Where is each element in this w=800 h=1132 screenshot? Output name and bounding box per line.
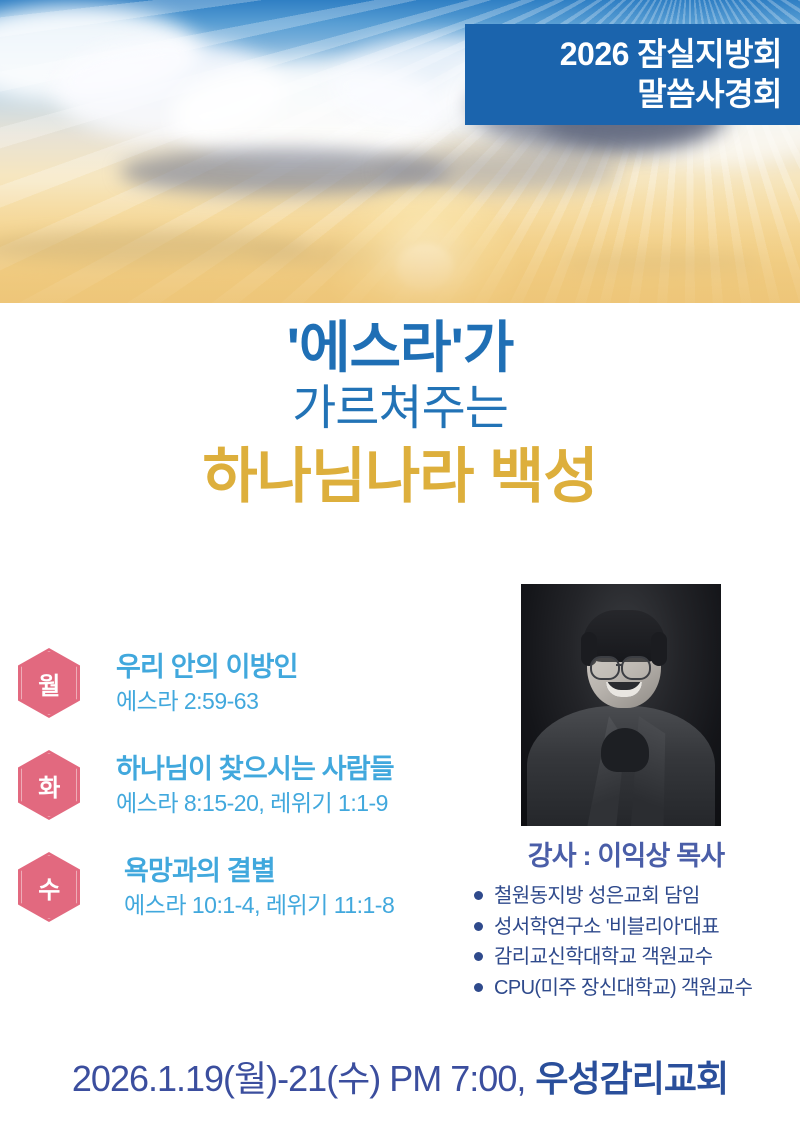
bullet-icon: [474, 891, 483, 900]
bullet-icon: [474, 952, 483, 961]
schedule-text: 하나님이 찾으시는 사람들 에스라 8:15-20, 레위기 1:1-9: [116, 751, 394, 818]
credential-item: 감리교신학대학교 객원교수: [452, 943, 800, 971]
bullet-icon: [474, 922, 483, 931]
title-line-2: 가르쳐주는: [0, 380, 800, 439]
day-badge-label: 월: [38, 666, 60, 701]
speaker-name: 강사 : 이익상 목사: [452, 840, 800, 872]
session-title: 하나님이 찾으시는 사람들: [116, 753, 394, 785]
day-badge-hexagon: 화: [18, 750, 80, 820]
day-badge-label: 화: [38, 768, 60, 803]
credential-item: CPU(미주 장신대학교) 객원교수: [452, 974, 800, 1002]
session-scripture: 에스라 10:1-4, 레위기 11:1-8: [124, 891, 394, 921]
footer-details: 2026.1.19(월)-21(수) PM 7:00, 우성감리교회: [0, 1050, 800, 1102]
horizon-glow: [0, 183, 800, 303]
speaker-credentials-list: 철원동지방 성은교회 담임 성서학연구소 '비블리아'대표 감리교신학대학교 객…: [452, 882, 800, 1002]
speaker-portrait-photo: [521, 584, 721, 826]
header-banner: 2026 잠실지방회 말씀사경회: [465, 24, 800, 125]
schedule-item: 수 욕망과의 결별 에스라 10:1-4, 레위기 11:1-8: [18, 852, 488, 922]
event-venue: 우성감리교회: [535, 1050, 728, 1102]
schedule-text: 욕망과의 결별 에스라 10:1-4, 레위기 11:1-8: [124, 853, 394, 920]
schedule-text: 우리 안의 이방인 에스라 2:59-63: [116, 649, 298, 716]
portrait-hair-right: [651, 632, 667, 666]
portrait-glasses-right: [621, 656, 651, 680]
event-poster: 2026 잠실지방회 말씀사경회 '에스라'가 가르쳐주는 하나님나라 백성 월…: [0, 0, 800, 1132]
schedule-list: 월 우리 안의 이방인 에스라 2:59-63 화 하나님이 찾으시는 사람들 …: [18, 648, 488, 954]
title-line-3: 하나님나라 백성: [0, 443, 800, 510]
banner-line-2: 말씀사경회: [637, 75, 782, 114]
session-title: 우리 안의 이방인: [116, 651, 298, 683]
day-badge-hexagon: 수: [18, 852, 80, 922]
day-badge-label: 수: [38, 870, 60, 905]
credential-item: 성서학연구소 '비블리아'대표: [452, 913, 800, 941]
schedule-item: 화 하나님이 찾으시는 사람들 에스라 8:15-20, 레위기 1:1-9: [18, 750, 488, 820]
credential-text: CPU(미주 장신대학교) 객원교수: [494, 974, 752, 1002]
title-line-1: '에스라'가: [0, 318, 800, 378]
poster-title: '에스라'가 가르쳐주는 하나님나라 백성: [0, 318, 800, 510]
portrait-turtleneck: [601, 728, 649, 772]
credential-text: 성서학연구소 '비블리아'대표: [494, 913, 719, 941]
bullet-icon: [474, 983, 483, 992]
day-badge-hexagon: 월: [18, 648, 80, 718]
speaker-info: 강사 : 이익상 목사 철원동지방 성은교회 담임 성서학연구소 '비블리아'대…: [452, 840, 800, 1004]
credential-item: 철원동지방 성은교회 담임: [452, 882, 800, 910]
credential-text: 감리교신학대학교 객원교수: [494, 943, 713, 971]
portrait-glasses-left: [590, 656, 620, 680]
banner-line-1: 2026 잠실지방회: [560, 35, 782, 74]
session-scripture: 에스라 8:15-20, 레위기 1:1-9: [116, 789, 394, 819]
credential-text: 철원동지방 성은교회 담임: [494, 882, 700, 910]
session-scripture: 에스라 2:59-63: [116, 687, 298, 717]
event-date-time: 2026.1.19(월)-21(수) PM 7:00,: [72, 1050, 525, 1102]
schedule-item: 월 우리 안의 이방인 에스라 2:59-63: [18, 648, 488, 718]
portrait-glasses-bridge: [616, 664, 623, 666]
session-title: 욕망과의 결별: [124, 855, 394, 887]
